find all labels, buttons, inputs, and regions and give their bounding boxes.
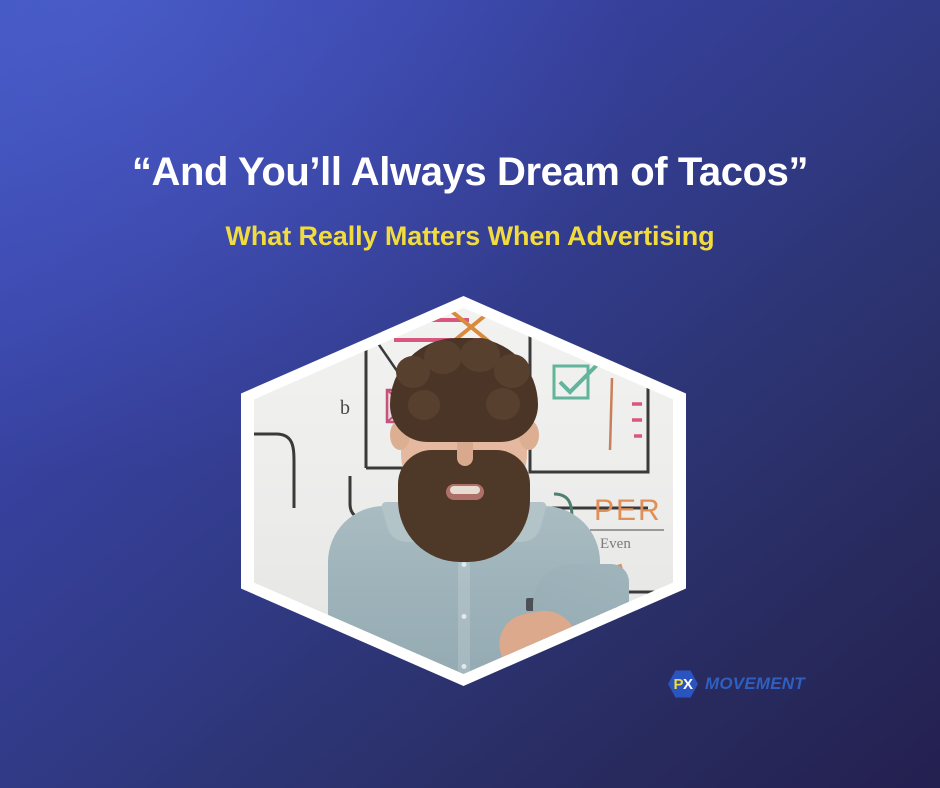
page-title: “And You’ll Always Dream of Tacos” (0, 150, 940, 195)
logo-wordmark: MOVEMENT (705, 674, 805, 694)
hair-curl (486, 388, 520, 420)
page-subtitle: What Really Matters When Advertising (0, 195, 940, 252)
px-movement-logo[interactable]: PX MOVEMENT (668, 670, 805, 698)
hair-curl (494, 354, 530, 388)
hair-curl (424, 340, 462, 374)
presenter-beard (398, 450, 530, 562)
px-hexagon-badge-icon: PX (668, 670, 698, 698)
hair-curl (408, 390, 440, 420)
shirt-button (461, 562, 466, 567)
px-badge-text: PX (673, 677, 692, 692)
shirt-button (461, 664, 466, 669)
presenter-hair (390, 338, 538, 442)
slide-canvas: “And You’ll Always Dream of Tacos” What … (0, 0, 940, 788)
shirt-button (461, 614, 466, 619)
px-badge-letter-p: P (673, 676, 683, 693)
hexagon-video-thumbnail[interactable]: b a (241, 296, 686, 686)
presenter-nose (457, 440, 473, 466)
heading-block: “And You’ll Always Dream of Tacos” What … (0, 150, 940, 252)
presenter-teeth (450, 486, 480, 494)
px-badge-letter-x: X (683, 676, 693, 693)
